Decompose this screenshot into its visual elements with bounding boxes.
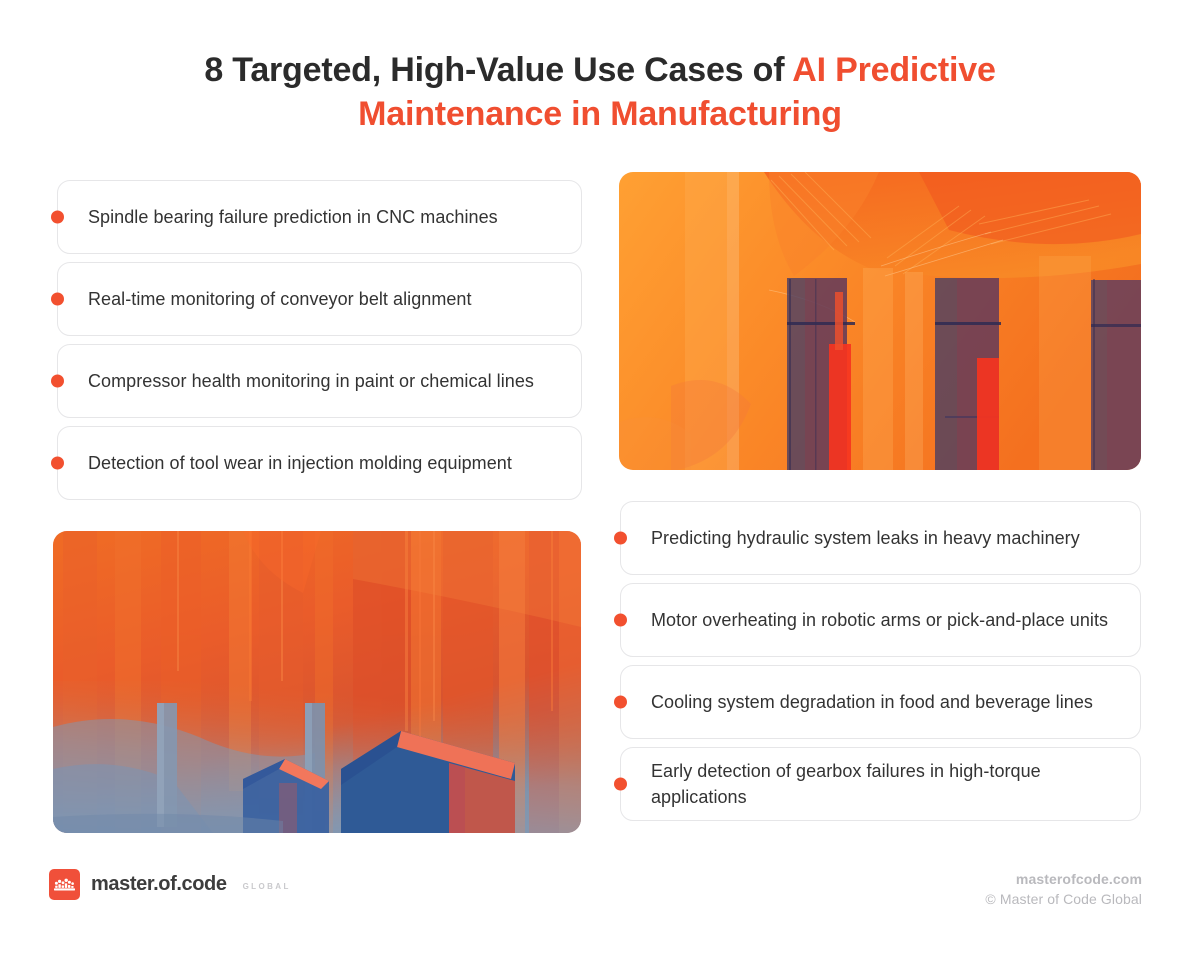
list-item[interactable]: Predicting hydraulic system leaks in hea…	[620, 501, 1141, 575]
page-title-block: 8 Targeted, High-Value Use Cases of AI P…	[100, 48, 1100, 136]
footer-website[interactable]: masterofcode.com	[985, 869, 1142, 889]
industrial-columns-artwork	[619, 172, 1141, 470]
logo-wordmark: master.of.code	[91, 873, 227, 896]
list-item[interactable]: Motor overheating in robotic arms or pic…	[620, 583, 1141, 657]
bullet-dot-icon	[51, 457, 64, 470]
bullet-dot-icon	[614, 778, 627, 791]
list-item-label: Predicting hydraulic system leaks in hea…	[651, 525, 1080, 551]
list-item-label: Detection of tool wear in injection mold…	[88, 450, 512, 476]
list-item[interactable]: Real-time monitoring of conveyor belt al…	[57, 262, 582, 336]
use-case-list-right: Predicting hydraulic system leaks in hea…	[620, 501, 1141, 821]
footer-logo[interactable]: master.of.code GLOBAL	[49, 869, 291, 900]
list-item[interactable]: Detection of tool wear in injection mold…	[57, 426, 582, 500]
list-item[interactable]: Compressor health monitoring in paint or…	[57, 344, 582, 418]
footer-copyright: © Master of Code Global	[985, 889, 1142, 910]
list-item-label: Cooling system degradation in food and b…	[651, 689, 1093, 715]
factory-smokestacks-image	[53, 531, 581, 833]
use-case-list-left: Spindle bearing failure prediction in CN…	[57, 180, 582, 500]
bullet-dot-icon	[614, 532, 627, 545]
list-item-label: Compressor health monitoring in paint or…	[88, 368, 534, 394]
page-title-plain: 8 Targeted, High-Value Use Cases of	[204, 51, 792, 89]
list-item-label: Real-time monitoring of conveyor belt al…	[88, 286, 472, 312]
list-item[interactable]: Early detection of gearbox failures in h…	[620, 747, 1141, 821]
bullet-dot-icon	[614, 614, 627, 627]
logo-glyph	[54, 878, 75, 892]
page-title: 8 Targeted, High-Value Use Cases of AI P…	[100, 48, 1100, 136]
list-item[interactable]: Spindle bearing failure prediction in CN…	[57, 180, 582, 254]
bullet-dot-icon	[51, 211, 64, 224]
list-item-label: Motor overheating in robotic arms or pic…	[651, 607, 1108, 633]
logo-subtext: GLOBAL	[243, 878, 291, 891]
industrial-columns-image	[619, 172, 1141, 470]
bullet-dot-icon	[51, 293, 64, 306]
bullet-dot-icon	[614, 696, 627, 709]
list-item[interactable]: Cooling system degradation in food and b…	[620, 665, 1141, 739]
footer-attribution: masterofcode.com © Master of Code Global	[985, 869, 1142, 910]
factory-smokestacks-artwork	[53, 531, 581, 833]
list-item-label: Early detection of gearbox failures in h…	[651, 758, 1118, 810]
master-of-code-logo-icon	[49, 869, 80, 900]
bullet-dot-icon	[51, 375, 64, 388]
list-item-label: Spindle bearing failure prediction in CN…	[88, 204, 498, 230]
infographic-page: 8 Targeted, High-Value Use Cases of AI P…	[0, 0, 1200, 956]
